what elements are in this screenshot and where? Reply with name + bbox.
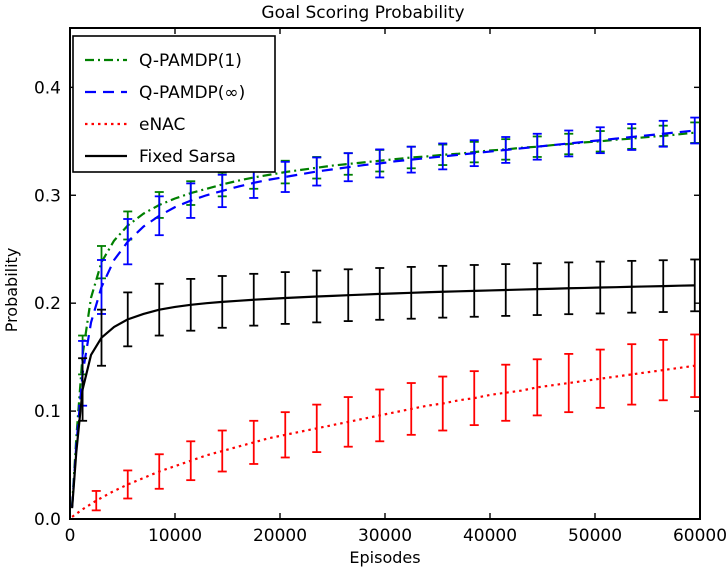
legend-label: eNAC xyxy=(139,115,185,135)
chart-legend: Q-PAMDP(1)Q-PAMDP(∞)eNACFixed Sarsa xyxy=(73,36,275,172)
y-tick-label: 0.2 xyxy=(34,294,61,314)
x-tick-label: 20000 xyxy=(253,526,307,546)
legend-label: Q-PAMDP(1) xyxy=(139,51,242,71)
x-tick-label: 10000 xyxy=(148,526,202,546)
y-tick-label: 0.0 xyxy=(34,510,61,530)
y-tick-label: 0.4 xyxy=(34,78,61,98)
chart-figure: Goal Scoring Probability 010000200003000… xyxy=(0,0,727,574)
legend-label: Q-PAMDP(∞) xyxy=(139,83,245,103)
x-tick-label: 40000 xyxy=(463,526,517,546)
x-tick-label: 30000 xyxy=(358,526,412,546)
x-tick-label: 0 xyxy=(65,526,76,546)
chart-title: Goal Scoring Probability xyxy=(261,3,464,23)
legend-label: Fixed Sarsa xyxy=(139,147,236,167)
x-axis-title: Episodes xyxy=(349,548,420,567)
x-tick-label: 50000 xyxy=(568,526,622,546)
y-tick-label: 0.1 xyxy=(34,402,61,422)
x-tick-label: 60000 xyxy=(673,526,727,546)
chart-canvas: Goal Scoring Probability 010000200003000… xyxy=(0,0,727,574)
y-axis-title: Probability xyxy=(2,248,21,333)
y-tick-label: 0.3 xyxy=(34,186,61,206)
